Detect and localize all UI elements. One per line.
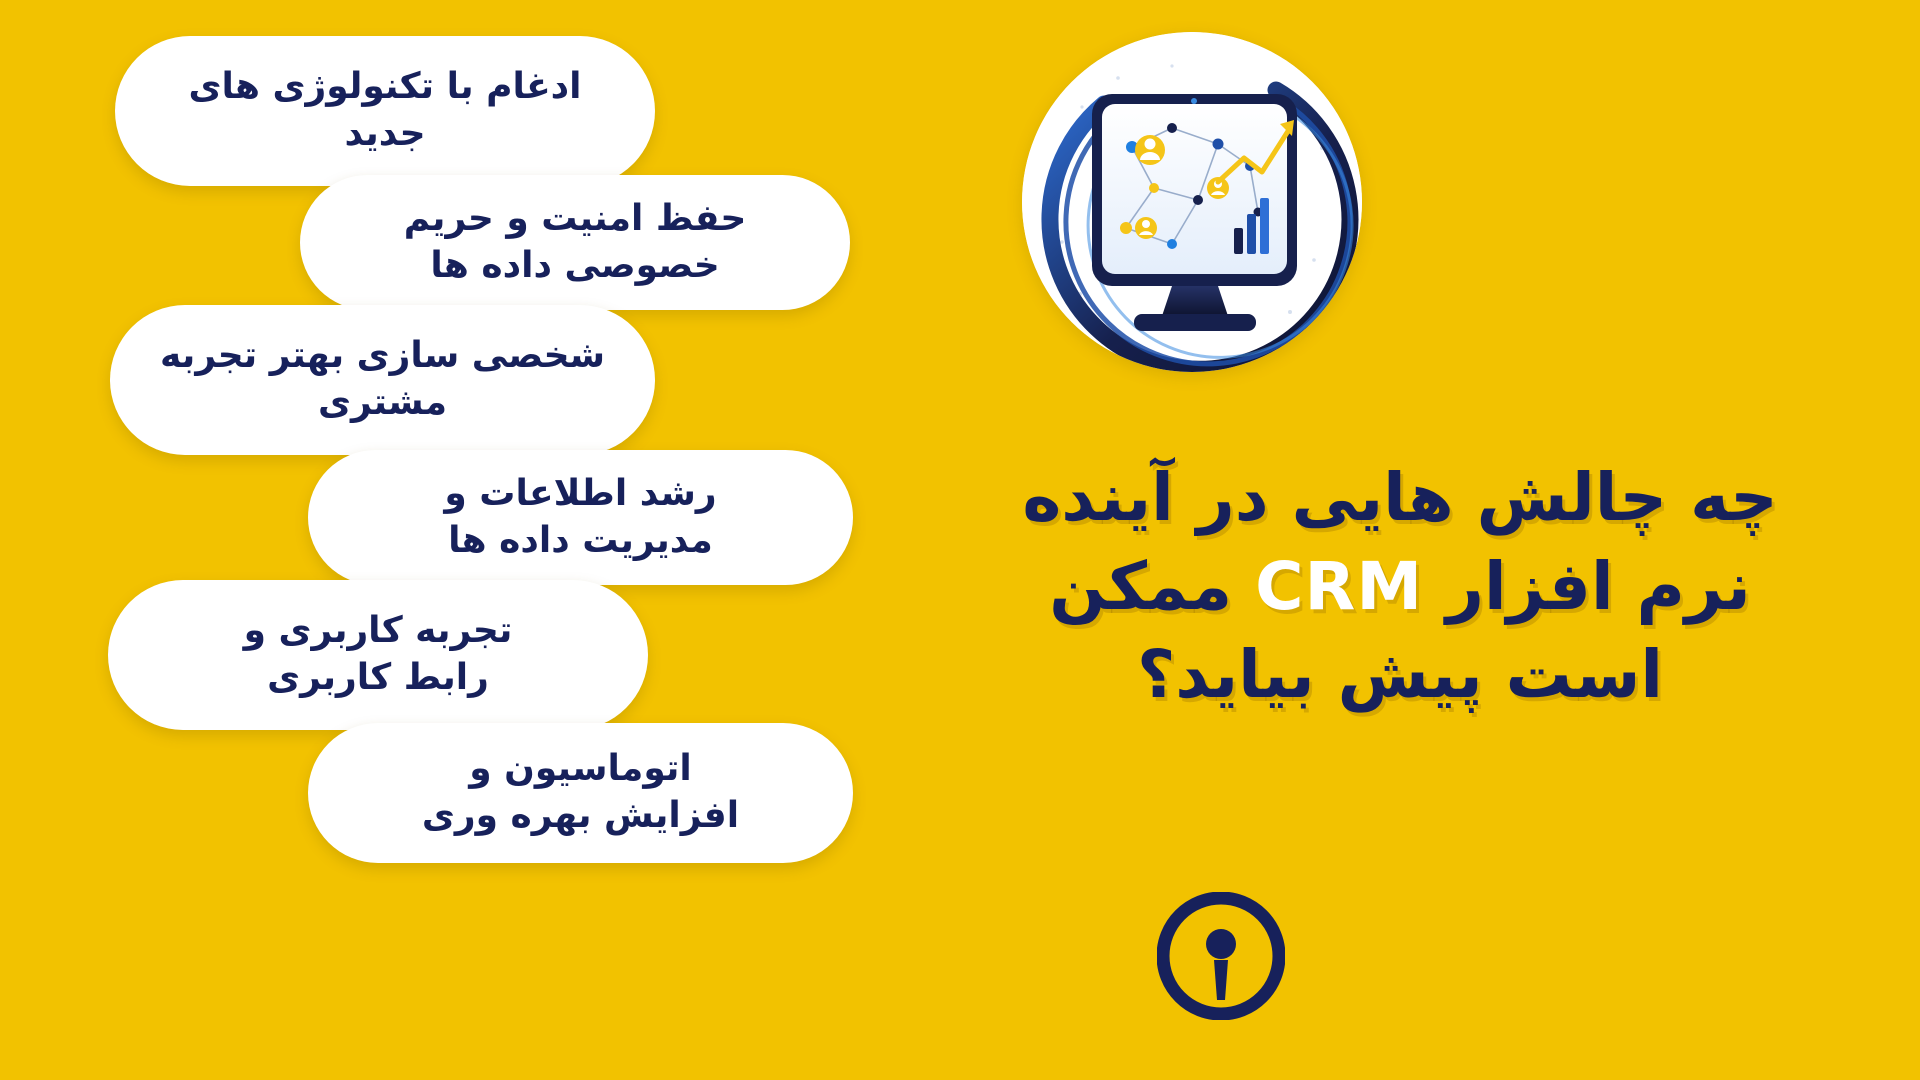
headline-line-2: نرم افزار CRM ممکن bbox=[960, 543, 1840, 631]
brand-logo[interactable] bbox=[1157, 892, 1285, 1020]
monitor-base bbox=[1134, 314, 1256, 331]
challenge-pill-better-personalization[interactable]: شخصی سازی بهتر تجربه مشتری bbox=[110, 305, 655, 455]
pill-label: شخصی سازی بهتر تجربه مشتری bbox=[160, 333, 605, 427]
challenge-pill-information-growth[interactable]: رشد اطلاعات و مدیریت داده ها bbox=[308, 450, 853, 585]
headline-line2-before: نرم افزار bbox=[1446, 548, 1751, 625]
brand-logo-icon bbox=[1157, 892, 1285, 1020]
challenge-pill-data-security-privacy[interactable]: حفظ امنیت و حریم خصوصی داده ها bbox=[300, 175, 850, 310]
illustration-svg bbox=[1022, 32, 1362, 372]
pill-label: اتوماسیون و افزایش بهره وری bbox=[422, 746, 739, 840]
monitor-stand bbox=[1162, 286, 1228, 316]
challenge-pill-merge-new-technologies[interactable]: ادغام با تکنولوژی های جدید bbox=[115, 36, 655, 186]
user-avatar-small-2 bbox=[1135, 217, 1157, 239]
pill-label: حفظ امنیت و حریم خصوصی داده ها bbox=[404, 196, 747, 290]
page-headline: چه چالش هایی در آینده نرم افزار CRM ممکن… bbox=[960, 454, 1840, 719]
headline-line-3: است پیش بیاید؟ bbox=[960, 631, 1840, 719]
headline-brand-crm: CRM bbox=[1255, 548, 1423, 625]
challenge-pill-user-experience-ui[interactable]: تجربه کاربری و رابط کاربری bbox=[108, 580, 648, 730]
pill-label: رشد اطلاعات و مدیریت داده ها bbox=[444, 471, 716, 565]
headline-line2-after: ممکن bbox=[1049, 548, 1232, 625]
right-panel: چه چالش هایی در آینده نرم افزار CRM ممکن… bbox=[960, 0, 1920, 1080]
infographic-canvas: ادغام با تکنولوژی های جدید حفظ امنیت و ح… bbox=[0, 0, 1920, 1080]
user-avatar-large bbox=[1135, 135, 1165, 165]
headline-line-1: چه چالش هایی در آینده bbox=[960, 454, 1840, 542]
pill-label: تجربه کاربری و رابط کاربری bbox=[244, 608, 513, 702]
crm-network-tablet-illustration bbox=[1022, 32, 1362, 372]
pill-label: ادغام با تکنولوژی های جدید bbox=[189, 64, 582, 158]
challenge-pill-automation-productivity[interactable]: اتوماسیون و افزایش بهره وری bbox=[308, 723, 853, 863]
challenge-pill-list: ادغام با تکنولوژی های جدید حفظ امنیت و ح… bbox=[0, 0, 960, 1080]
tablet-screen bbox=[1102, 104, 1287, 274]
